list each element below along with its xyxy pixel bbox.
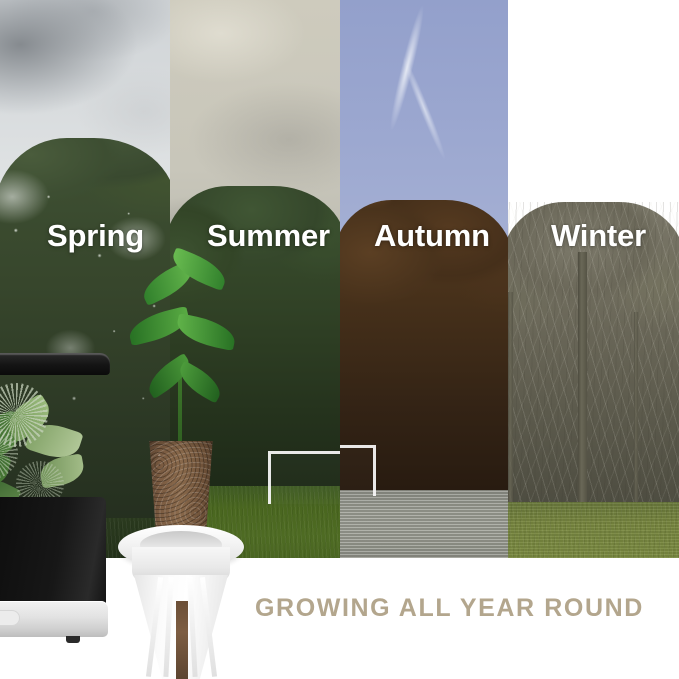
- device-base: [0, 601, 108, 637]
- season-panel-autumn: [340, 0, 508, 558]
- season-panel-winter: [508, 0, 679, 558]
- season-label-spring: Spring: [47, 220, 144, 251]
- tree-trunk-secondary: [508, 292, 513, 502]
- tree-trunk: [578, 252, 587, 502]
- seasonal-product-banner: Spring Summer Autumn Winter GROWING ALL …: [0, 0, 679, 679]
- device-lid: [0, 353, 110, 375]
- pod-soil-window-lower: [176, 601, 188, 679]
- device-body: [0, 497, 106, 607]
- goal-post-autumn: [340, 445, 376, 496]
- goal-post-summer: [268, 451, 340, 504]
- herb-cluster: [0, 365, 102, 515]
- grass-texture: [508, 502, 679, 558]
- grow-pod: [118, 349, 244, 679]
- device-foot: [66, 636, 80, 643]
- device-control-button[interactable]: [0, 610, 20, 626]
- season-label-autumn: Autumn: [374, 220, 490, 251]
- hydroponic-garden-device: [0, 353, 110, 643]
- tree-trunk-tertiary: [634, 312, 638, 502]
- season-label-summer: Summer: [207, 220, 330, 251]
- tagline: GROWING ALL YEAR ROUND: [255, 596, 644, 621]
- ground-winter: [508, 502, 679, 558]
- ground-autumn: [340, 490, 508, 558]
- season-label-winter: Winter: [551, 220, 646, 251]
